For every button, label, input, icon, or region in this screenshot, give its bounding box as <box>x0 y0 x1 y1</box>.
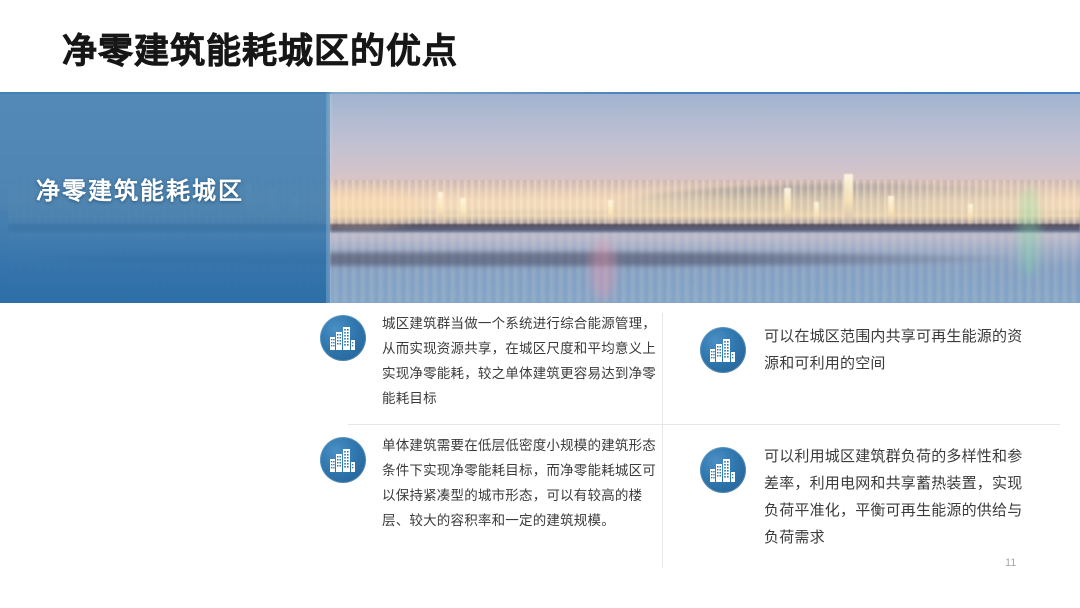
benefit-text: 可以利用城区建筑群负荷的多样性和参差率，利用电网和共享蓄热装置，实现负荷平准化，… <box>764 443 1026 551</box>
benefit-item: 城区建筑群当做一个系统进行综合能源管理，从而实现资源共享，在城区尺度和平均意义上… <box>320 311 665 411</box>
city-buildings-icon <box>320 315 366 361</box>
benefit-text: 单体建筑需要在低层低密度小规模的建筑形态条件下实现净零能耗目标，而净零能耗城区可… <box>382 433 664 533</box>
hero-glow-pink <box>590 240 616 300</box>
hero-panel-seam <box>326 92 333 303</box>
page-number: 11 <box>1005 557 1016 569</box>
hero-banner: 净零建筑能耗城区 <box>0 92 1080 303</box>
hero-glow-green <box>1018 187 1040 277</box>
grid-horizontal-divider <box>348 424 1060 425</box>
benefit-item: 单体建筑需要在低层低密度小规模的建筑形态条件下实现净零能耗目标，而净零能耗城区可… <box>320 433 665 533</box>
hero-panel-label: 净零建筑能耗城区 <box>36 171 244 206</box>
benefit-item: 可以利用城区建筑群负荷的多样性和参差率，利用电网和共享蓄热装置，实现负荷平准化，… <box>700 443 1030 551</box>
benefit-item: 可以在城区范围内共享可再生能源的资源和可利用的空间 <box>700 323 1030 377</box>
benefit-text: 可以在城区范围内共享可再生能源的资源和可利用的空间 <box>764 323 1026 377</box>
city-buildings-icon <box>320 437 366 483</box>
benefit-text: 城区建筑群当做一个系统进行综合能源管理，从而实现资源共享，在城区尺度和平均意义上… <box>382 311 664 411</box>
city-buildings-icon <box>700 327 746 373</box>
hero-top-accent-line <box>0 92 1080 94</box>
benefits-grid: 城区建筑群当做一个系统进行综合能源管理，从而实现资源共享，在城区尺度和平均意义上… <box>320 303 1060 575</box>
city-buildings-icon <box>700 447 746 493</box>
page-title: 净零建筑能耗城区的优点 <box>62 33 458 72</box>
